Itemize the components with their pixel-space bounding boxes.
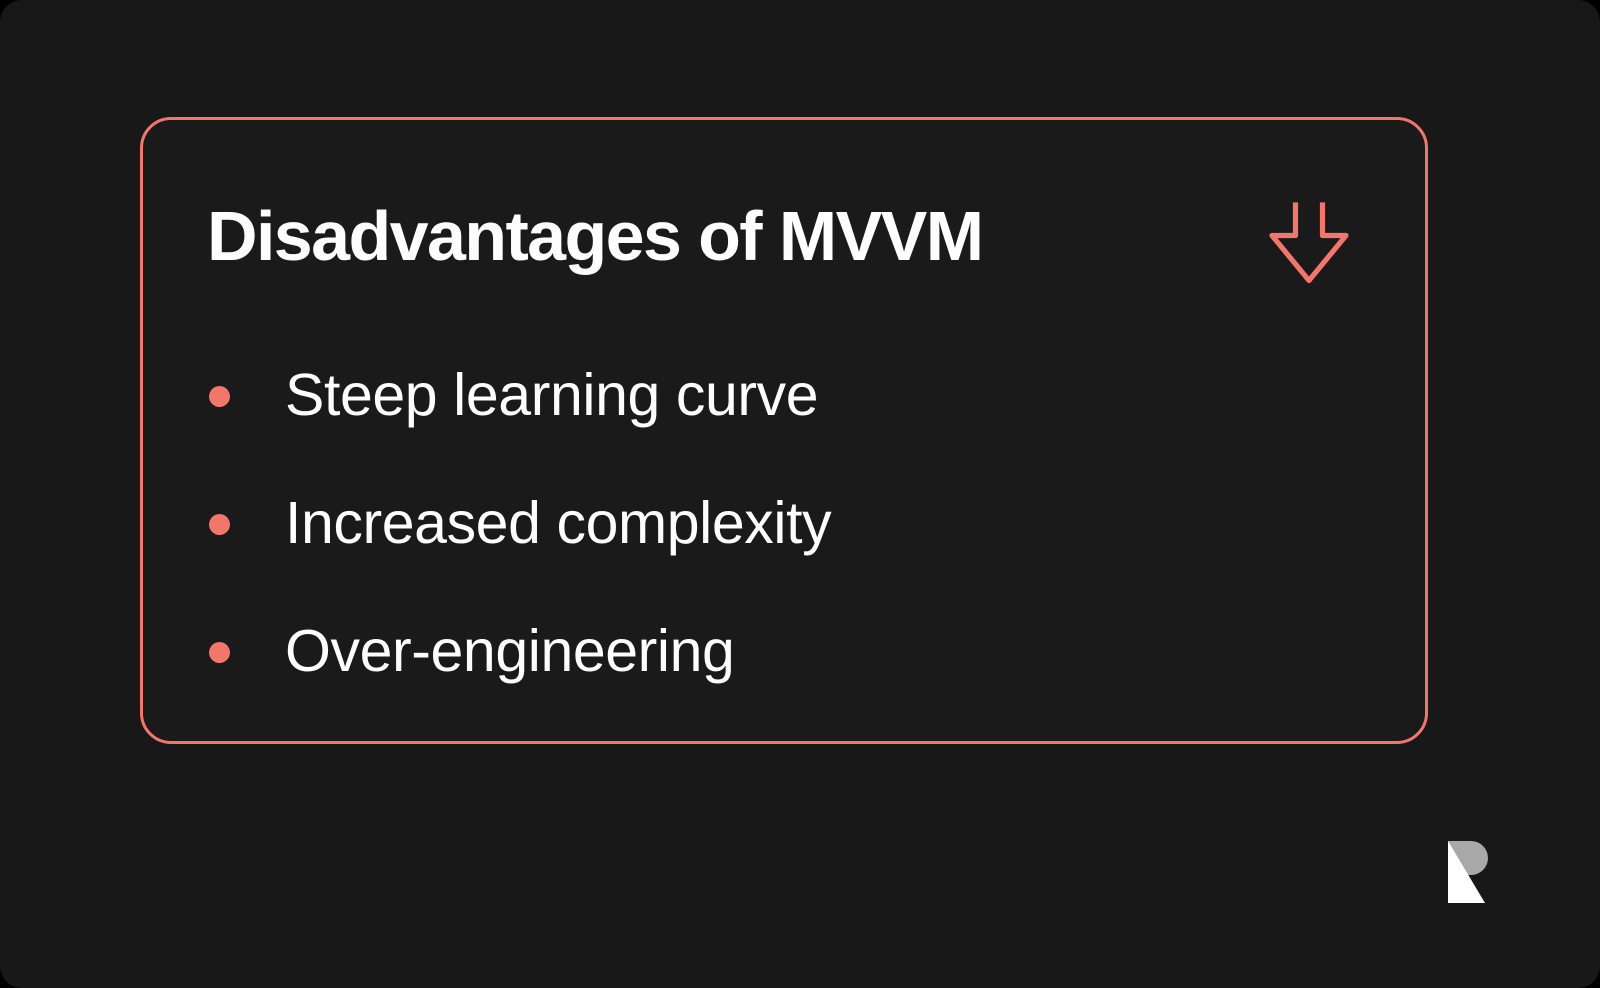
list-item-label: Over-engineering	[285, 621, 734, 683]
content-card: Disadvantages of MVVM Steep learning cur…	[140, 117, 1428, 744]
disadvantages-list: Steep learning curve Increased complexit…	[143, 332, 1425, 716]
list-item: Steep learning curve	[143, 332, 1425, 460]
bullet-dot-icon	[209, 514, 230, 535]
bullet-dot-icon	[209, 386, 230, 407]
card-header: Disadvantages of MVVM	[207, 182, 1367, 290]
page-title: Disadvantages of MVVM	[207, 182, 982, 290]
list-item-label: Steep learning curve	[285, 365, 818, 427]
list-item: Increased complexity	[143, 460, 1425, 588]
list-item-label: Increased complexity	[285, 493, 831, 555]
list-item: Over-engineering	[143, 588, 1425, 716]
bullet-dot-icon	[209, 642, 230, 663]
arrow-down-icon	[1265, 202, 1353, 286]
slide-canvas: Disadvantages of MVVM Steep learning cur…	[0, 0, 1600, 988]
r-logo	[1448, 841, 1496, 903]
